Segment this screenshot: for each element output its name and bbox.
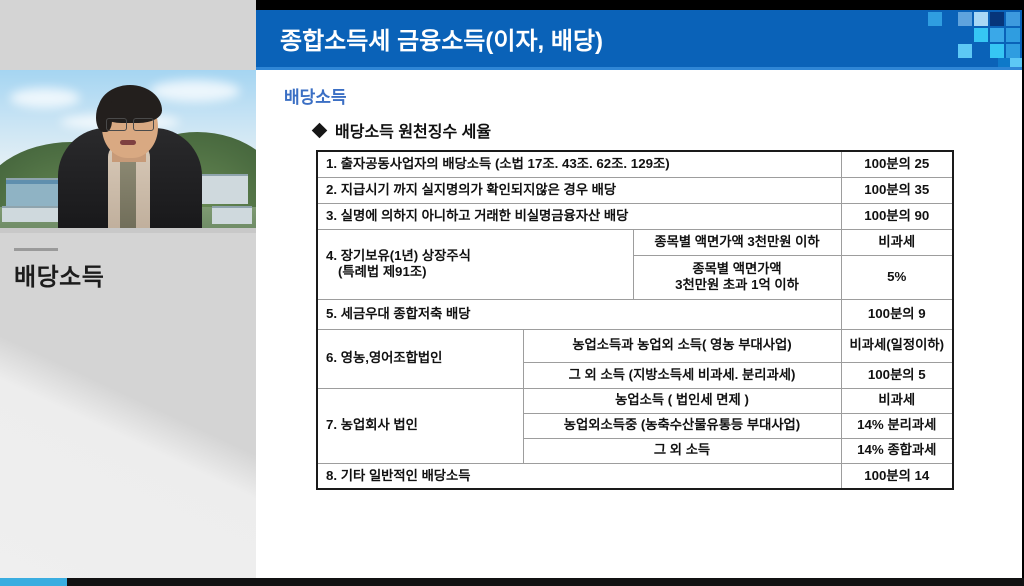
table-row: 4. 장기보유(1년) 상장주식 (특례법 제91조) 종목별 액면가액 3천만… xyxy=(317,229,953,255)
row-rate: 14% 분리과세 xyxy=(841,413,953,438)
row-detail-line2: 3천만원 초과 1억 이하 xyxy=(642,277,833,293)
table-row: 8. 기타 일반적인 배당소득 100분의 14 xyxy=(317,463,953,489)
row-rate: 100분의 90 xyxy=(841,203,953,229)
bullet-heading: 배당소득 원천징수 세율 xyxy=(314,118,491,142)
withholding-rate-table: 1. 출자공동사업자의 배당소득 (소법 17조. 43조. 62조. 129조… xyxy=(316,150,954,490)
table-row: 6. 영농,영어조합법인 농업소득과 농업외 소득( 영농 부대사업) 비과세(… xyxy=(317,329,953,362)
caption-title: 배당소득 xyxy=(14,265,244,291)
top-letterbox xyxy=(256,0,1024,10)
glasses-icon xyxy=(106,118,154,129)
row-label: 5. 세금우대 종합저축 배당 xyxy=(317,299,841,329)
slide-header: 종합소득세 금융소득(이자, 배당) xyxy=(256,10,1024,67)
table-row: 5. 세금우대 종합저축 배당 100분의 9 xyxy=(317,299,953,329)
section-label: 배당소득 xyxy=(284,83,347,108)
row-detail: 그 외 소득 (지방소득세 비과세. 분리과세) xyxy=(523,362,841,388)
row-label: 7. 농업회사 법인 xyxy=(317,388,523,463)
row-label: 1. 출자공동사업자의 배당소득 (소법 17조. 43조. 62조. 129조… xyxy=(317,151,841,177)
left-caption: 배당소득 xyxy=(14,248,244,291)
player-progress-fill[interactable] xyxy=(0,578,67,586)
row-rate: 100분의 5 xyxy=(841,362,953,388)
presenter-video[interactable] xyxy=(0,70,256,233)
row-label-line2: (특례법 제91조) xyxy=(326,264,625,280)
cloud-icon xyxy=(150,80,240,102)
row-rate: 5% xyxy=(841,255,953,299)
row-detail: 종목별 액면가액 3천만원 이하 xyxy=(633,229,841,255)
row-detail: 종목별 액면가액 3천만원 초과 1억 이하 xyxy=(633,255,841,299)
header-decoration xyxy=(920,10,1024,67)
row-label: 2. 지급시기 까지 실지명의가 확인되지않은 경우 배당 xyxy=(317,177,841,203)
row-rate: 비과세 xyxy=(841,229,953,255)
row-rate: 비과세 xyxy=(841,388,953,413)
table-row: 2. 지급시기 까지 실지명의가 확인되지않은 경우 배당 100분의 35 xyxy=(317,177,953,203)
presenter-mouth xyxy=(120,140,136,145)
row-rate: 100분의 25 xyxy=(841,151,953,177)
table-row: 7. 농업회사 법인 농업소득 ( 법인세 면제 ) 비과세 xyxy=(317,388,953,413)
row-rate: 14% 종합과세 xyxy=(841,438,953,463)
row-detail: 농업소득과 농업외 소득( 영농 부대사업) xyxy=(523,329,841,362)
row-detail: 농업외소득중 (농축수산물유통등 부대사업) xyxy=(523,413,841,438)
caption-rule xyxy=(14,248,58,251)
page-title: 종합소득세 금융소득(이자, 배당) xyxy=(280,21,603,56)
left-panel: 배당소득 xyxy=(0,0,256,578)
slide-screen: 배당소득 종합소득세 금융소득(이자, 배당) 배당소득 배당소득 원천징수 xyxy=(0,0,1024,586)
row-label: 3. 실명에 의하지 아니하고 거래한 비실명금융자산 배당 xyxy=(317,203,841,229)
campus-building xyxy=(212,206,252,224)
row-rate: 100분의 9 xyxy=(841,299,953,329)
row-detail: 그 외 소득 xyxy=(523,438,841,463)
video-bottom-edge xyxy=(0,228,256,233)
row-label: 8. 기타 일반적인 배당소득 xyxy=(317,463,841,489)
campus-building xyxy=(196,174,248,204)
presenter-tie xyxy=(120,155,136,233)
player-progress-track[interactable] xyxy=(0,578,1024,586)
row-detail: 농업소득 ( 법인세 면제 ) xyxy=(523,388,841,413)
row-rate: 100분의 35 xyxy=(841,177,953,203)
row-rate: 비과세(일정이하) xyxy=(841,329,953,362)
cloud-icon xyxy=(10,88,80,108)
row-label: 6. 영농,영어조합법인 xyxy=(317,329,523,388)
row-label-line1: 4. 장기보유(1년) 상장주식 xyxy=(326,248,625,264)
left-panel-gradient xyxy=(0,330,256,578)
table-row: 1. 출자공동사업자의 배당소득 (소법 17조. 43조. 62조. 129조… xyxy=(317,151,953,177)
diamond-bullet-icon xyxy=(312,122,328,138)
row-detail-line1: 종목별 액면가액 xyxy=(642,261,833,277)
bullet-heading-text: 배당소득 원천징수 세율 xyxy=(335,118,491,142)
table-row: 3. 실명에 의하지 아니하고 거래한 비실명금융자산 배당 100분의 90 xyxy=(317,203,953,229)
row-label: 4. 장기보유(1년) 상장주식 (특례법 제91조) xyxy=(317,229,633,299)
slide-content: 배당소득 배당소득 원천징수 세율 1. 출자공동사업자의 배당소득 (소법 1… xyxy=(256,70,1024,578)
row-rate: 100분의 14 xyxy=(841,463,953,489)
